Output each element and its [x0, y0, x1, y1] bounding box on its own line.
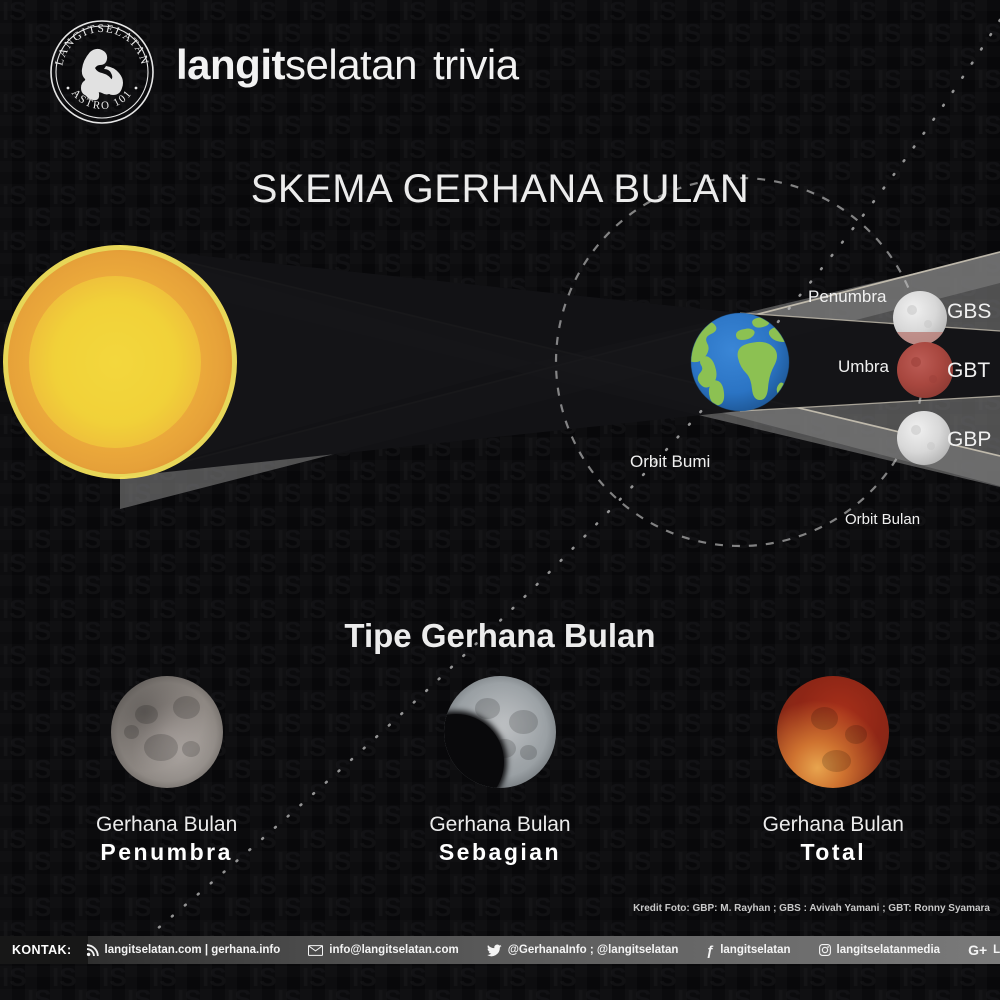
- brand-wordmark: langitselatantrivia: [176, 41, 519, 89]
- footer-item-facebook[interactable]: ƒ langitselatan: [692, 943, 804, 957]
- footer-item-email[interactable]: info@langitselatan.com: [294, 944, 472, 956]
- moon-total-photo: [777, 676, 889, 788]
- twitter-icon: [487, 944, 502, 957]
- kontak-label: KONTAK:: [0, 943, 72, 957]
- rss-icon: [86, 944, 99, 957]
- caption-top: Gerhana Bulan: [429, 813, 570, 837]
- eclipse-type-penumbra: Gerhana Bulan Penumbra: [0, 676, 333, 876]
- emblem-rider-figure: [81, 49, 123, 100]
- label-gbp: GBP: [947, 428, 991, 452]
- moon-penumbral-icon: [897, 411, 951, 465]
- moon-partial-photo: [444, 676, 556, 788]
- moon-penumbral-photo: [111, 676, 223, 788]
- moon-total-icon: [897, 342, 953, 398]
- footer-item-twitter[interactable]: @GerhanaInfo ; @langitselatan: [473, 944, 693, 957]
- footer-item-instagram[interactable]: langitselatanmedia: [805, 944, 955, 956]
- sun-icon: [3, 245, 237, 479]
- label-gbt: GBT: [947, 359, 990, 383]
- footer-facebook-text: langitselatan: [720, 944, 790, 956]
- header: LANGITSELATAN ASTRO 101 langitselatantri…: [0, 0, 1000, 140]
- caption-bottom: Penumbra: [96, 839, 237, 865]
- footer-instagram-text: langitselatanmedia: [837, 944, 941, 956]
- caption-bottom: Total: [763, 839, 904, 865]
- eclipse-type-caption: Gerhana Bulan Total: [763, 813, 904, 866]
- eclipse-types-row: Gerhana Bulan Penumbra Gerhana Bulan Seb…: [0, 676, 1000, 876]
- footer-item-website[interactable]: langitselatan.com | gerhana.info: [72, 944, 295, 957]
- label-umbra: Umbra: [838, 357, 889, 377]
- brand-bold: langit: [176, 41, 285, 88]
- brand-suffix: trivia: [433, 41, 519, 88]
- label-gbs: GBS: [947, 300, 991, 324]
- instagram-icon: [819, 944, 831, 956]
- page-title: SKEMA GERHANA BULAN: [0, 167, 1000, 212]
- caption-top: Gerhana Bulan: [96, 813, 237, 837]
- footer-website-text: langitselatan.com | gerhana.info: [105, 944, 281, 956]
- caption-top: Gerhana Bulan: [763, 813, 904, 837]
- footer-googleplus-text: LangitselatanMedia: [993, 944, 1000, 956]
- footer-twitter-text: @GerhanaInfo ; @langitselatan: [508, 944, 679, 956]
- footer-item-googleplus[interactable]: G+ LangitselatanMedia: [954, 943, 1000, 957]
- types-section-title: Tipe Gerhana Bulan: [0, 617, 1000, 655]
- contact-footer: KONTAK: langitselatan.com | gerhana.info…: [0, 936, 1000, 964]
- envelope-icon: [308, 945, 323, 956]
- infographic-poster: IS IS: [0, 0, 1000, 1000]
- brand-light: selatan: [285, 41, 417, 88]
- label-orbit-bulan: Orbit Bulan: [845, 511, 920, 528]
- facebook-icon: ƒ: [706, 943, 714, 957]
- eclipse-type-caption: Gerhana Bulan Penumbra: [96, 813, 237, 866]
- label-orbit-bumi: Orbit Bumi: [630, 452, 710, 472]
- label-penumbra: Penumbra: [808, 287, 886, 307]
- eclipse-type-total: Gerhana Bulan Total: [667, 676, 1000, 876]
- eclipse-type-sebagian: Gerhana Bulan Sebagian: [333, 676, 666, 876]
- eclipse-type-caption: Gerhana Bulan Sebagian: [429, 813, 570, 866]
- photo-credit: Kredit Foto: GBP: M. Rayhan ; GBS : Aviv…: [0, 903, 990, 914]
- footer-email-text: info@langitselatan.com: [329, 944, 458, 956]
- caption-bottom: Sebagian: [429, 839, 570, 865]
- langitselatan-emblem-icon[interactable]: LANGITSELATAN ASTRO 101: [48, 18, 156, 126]
- googleplus-icon: G+: [968, 943, 987, 957]
